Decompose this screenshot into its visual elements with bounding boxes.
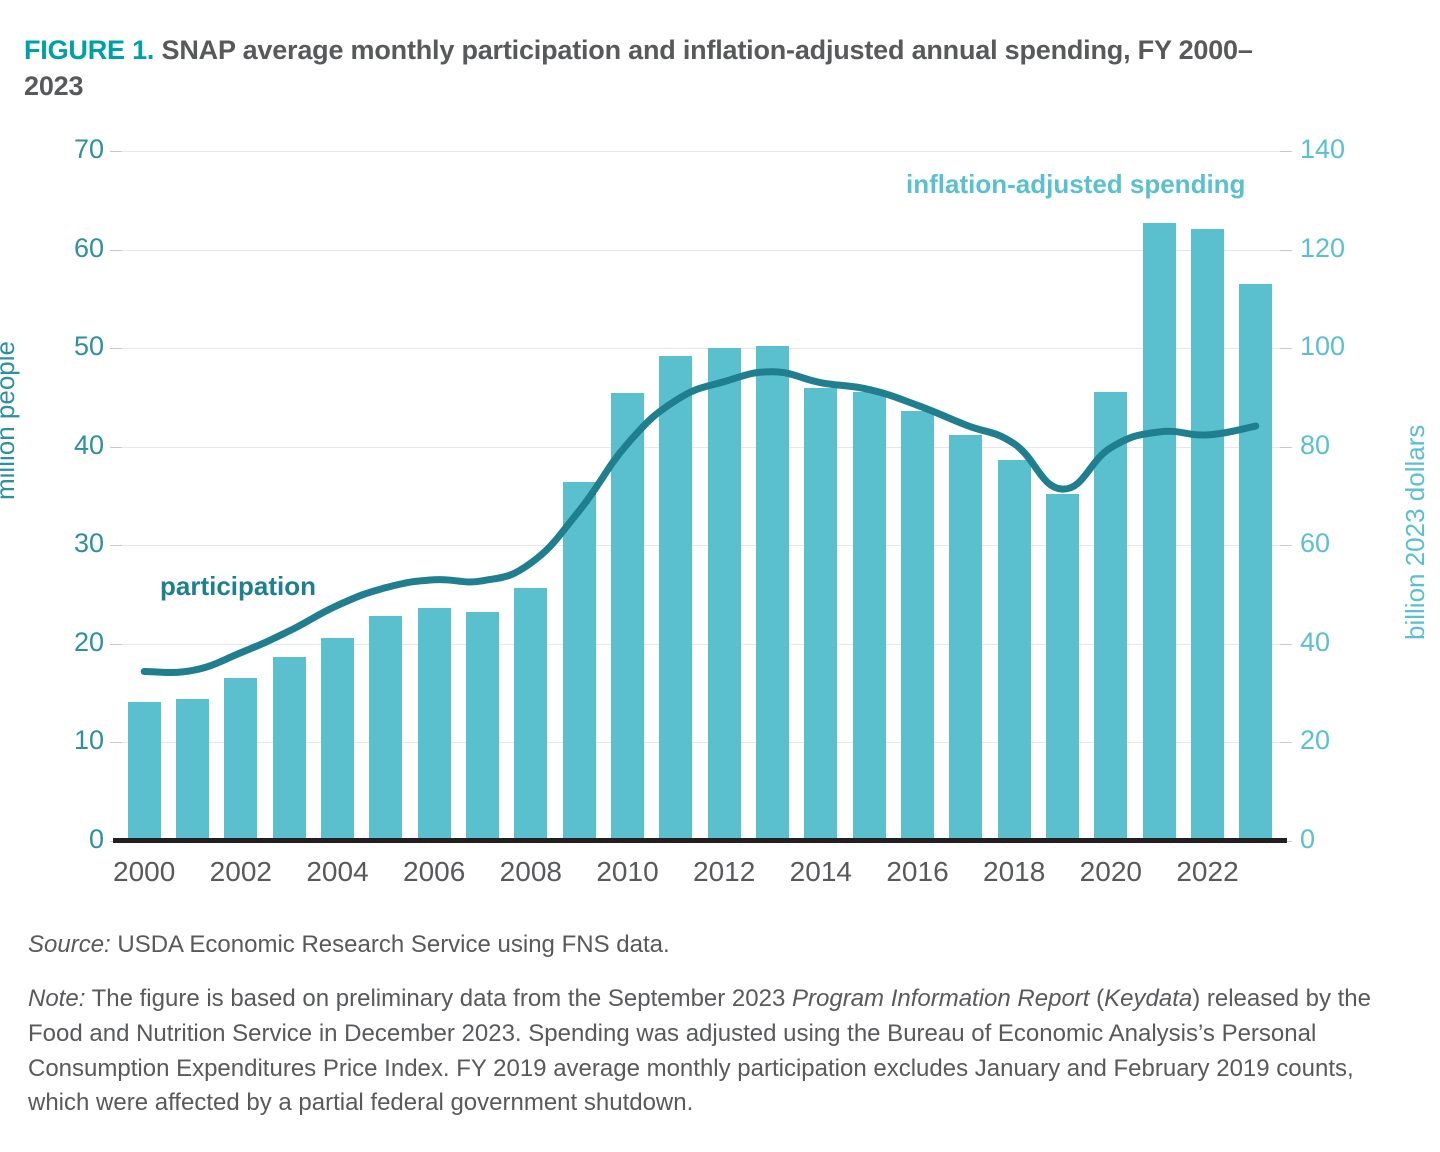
bar bbox=[708, 348, 741, 841]
right-axis-tickmark bbox=[1280, 742, 1292, 743]
right-axis-tick-label: 140 bbox=[1300, 134, 1380, 165]
left-axis-tick-label: 30 bbox=[48, 528, 104, 559]
bar bbox=[1094, 392, 1127, 841]
x-axis-tick-label: 2018 bbox=[983, 856, 1045, 888]
bar bbox=[128, 702, 161, 841]
bar bbox=[466, 612, 499, 841]
source-text: USDA Economic Research Service using FNS… bbox=[111, 931, 670, 958]
plot-area bbox=[120, 151, 1280, 841]
right-axis-title: billion 2023 dollars bbox=[1400, 425, 1431, 640]
bar bbox=[514, 588, 547, 841]
source-label: Source: bbox=[28, 931, 111, 958]
note-label: Note: bbox=[28, 985, 85, 1012]
x-axis-tick-label: 2022 bbox=[1176, 856, 1238, 888]
x-axis-tick-label: 2014 bbox=[790, 856, 852, 888]
bar bbox=[901, 411, 934, 841]
x-axis-tick-label: 2000 bbox=[113, 856, 175, 888]
bar bbox=[756, 346, 789, 841]
right-axis-tick-label: 100 bbox=[1300, 331, 1380, 362]
x-axis-tick-label: 2008 bbox=[500, 856, 562, 888]
bar bbox=[804, 388, 837, 841]
left-axis-tick-label: 70 bbox=[48, 134, 104, 165]
note-text-2: ( bbox=[1089, 985, 1104, 1012]
note-italic-report: Program Information Report bbox=[792, 985, 1089, 1012]
bar bbox=[563, 482, 596, 841]
x-axis-tick-label: 2020 bbox=[1080, 856, 1142, 888]
bar bbox=[369, 616, 402, 841]
left-axis-tick-label: 0 bbox=[48, 824, 104, 855]
bar bbox=[1143, 223, 1176, 841]
x-axis-tick-label: 2010 bbox=[596, 856, 658, 888]
bar bbox=[998, 460, 1031, 841]
right-axis-tickmark bbox=[1280, 151, 1292, 152]
left-axis-tick-label: 10 bbox=[48, 725, 104, 756]
spending-series-label: inflation-adjusted spending bbox=[906, 169, 1245, 200]
bar bbox=[1191, 229, 1224, 841]
right-axis-tick-label: 0 bbox=[1300, 824, 1380, 855]
bar bbox=[224, 678, 257, 841]
left-axis-title: million people bbox=[0, 341, 21, 500]
left-axis-tick-label: 50 bbox=[48, 331, 104, 362]
right-axis-tickmark bbox=[1280, 545, 1292, 546]
bar bbox=[1239, 284, 1272, 841]
right-axis-tickmark bbox=[1280, 644, 1292, 645]
right-axis-tick-label: 80 bbox=[1300, 430, 1380, 461]
right-axis-tickmark bbox=[1280, 250, 1292, 251]
bar bbox=[418, 608, 451, 841]
figure-note: Note: The figure is based on preliminary… bbox=[28, 982, 1413, 1121]
right-axis-tick-label: 120 bbox=[1300, 233, 1380, 264]
bar bbox=[659, 356, 692, 841]
note-italic-keydata: Keydata bbox=[1104, 985, 1192, 1012]
participation-series-label: participation bbox=[160, 571, 316, 602]
x-axis-tick-label: 2016 bbox=[886, 856, 948, 888]
chart-figure: million people billion 2023 dollars 0102… bbox=[0, 0, 1440, 910]
x-axis-tick-label: 2012 bbox=[693, 856, 755, 888]
right-axis-tickmark bbox=[1280, 447, 1292, 448]
left-axis-tick-label: 20 bbox=[48, 627, 104, 658]
bar bbox=[1046, 494, 1079, 841]
x-axis-baseline bbox=[113, 838, 1287, 843]
right-axis-tick-label: 20 bbox=[1300, 725, 1380, 756]
x-axis-tick-label: 2002 bbox=[210, 856, 272, 888]
bar bbox=[321, 638, 354, 841]
note-text-1: The figure is based on preliminary data … bbox=[85, 985, 792, 1012]
left-axis-tick-label: 40 bbox=[48, 430, 104, 461]
bar bbox=[949, 435, 982, 841]
bar bbox=[853, 392, 886, 841]
right-axis-tickmark bbox=[1280, 348, 1292, 349]
right-axis-tick-label: 60 bbox=[1300, 528, 1380, 559]
x-axis-tick-label: 2006 bbox=[403, 856, 465, 888]
bar bbox=[611, 393, 644, 841]
x-axis-tick-label: 2004 bbox=[306, 856, 368, 888]
source-note: Source: USDA Economic Research Service u… bbox=[28, 928, 670, 962]
right-axis-tick-label: 40 bbox=[1300, 627, 1380, 658]
bar bbox=[176, 699, 209, 841]
bar bbox=[273, 657, 306, 841]
left-axis-tick-label: 60 bbox=[48, 233, 104, 264]
